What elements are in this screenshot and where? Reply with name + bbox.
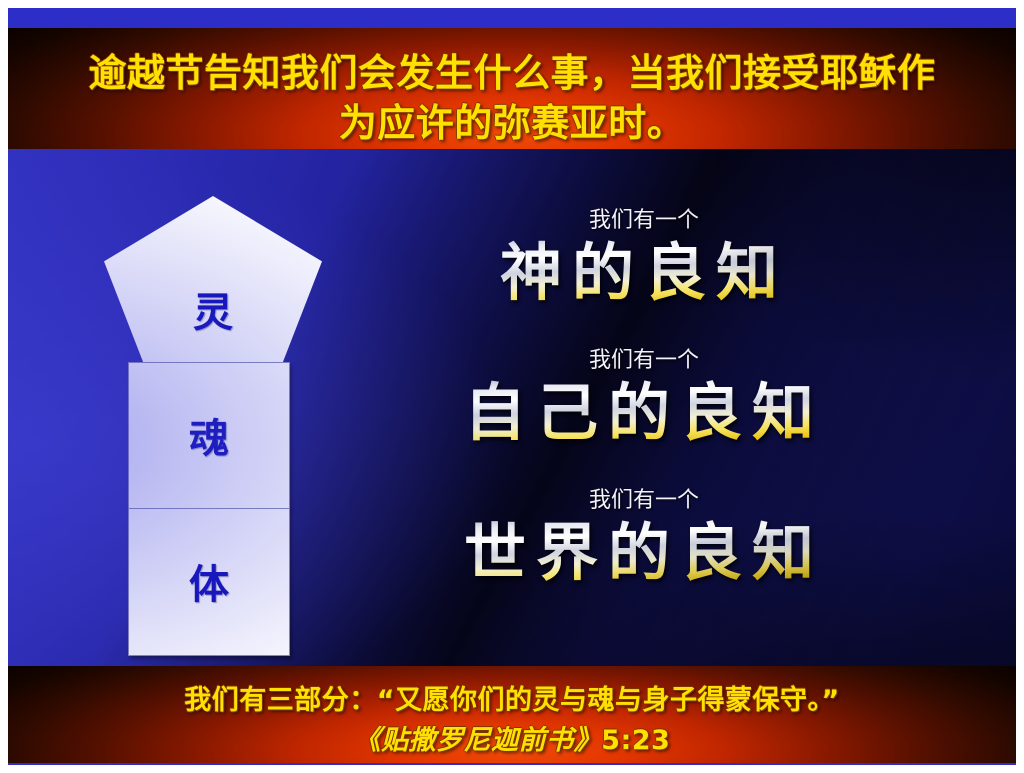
soul-box[interactable]: 魂 bbox=[128, 362, 290, 510]
conscience-main-self: 自己的良知 bbox=[344, 380, 944, 445]
conscience-row-self: 我们有一个 自己的良知 bbox=[344, 350, 944, 490]
conscience-intro-self: 我们有一个 bbox=[344, 350, 944, 372]
conscience-row-god: 我们有一个 神的良知 bbox=[344, 210, 944, 350]
soul-label: 魂 bbox=[129, 406, 289, 464]
conscience-main-god: 神的良知 bbox=[344, 240, 944, 305]
conscience-main-world: 世界的良知 bbox=[344, 520, 944, 585]
spirit-pentagon[interactable]: 灵 bbox=[104, 196, 322, 368]
caption-line-2: 《贴撒罗尼迦前书》5:23 bbox=[8, 718, 1016, 757]
conscience-intro-god: 我们有一个 bbox=[344, 210, 944, 232]
body-label: 体 bbox=[129, 552, 289, 610]
conscience-row-world: 我们有一个 世界的良知 bbox=[344, 490, 944, 630]
title-line-1: 逾越节告知我们会发生什么事，当我们接受耶稣作 bbox=[8, 42, 1016, 97]
slide-frame: 灵 魂 体 我们有一个 神的良知 我们有一个 自己的良知 bbox=[8, 8, 1016, 765]
slide: 灵 魂 体 我们有一个 神的良知 我们有一个 自己的良知 bbox=[0, 0, 1024, 773]
scripture-verse: 5:23 bbox=[601, 725, 670, 756]
conscience-list: 我们有一个 神的良知 我们有一个 自己的良知 我们有一个 世界的良知 bbox=[344, 210, 944, 630]
scripture-reference: 《贴撒罗尼迦前书》 bbox=[354, 725, 602, 756]
tripartite-diagram: 灵 魂 体 bbox=[104, 196, 324, 658]
caption-banner: 我们有三部分：“又愿你们的灵与魂与身子得蒙保守。” 《贴撒罗尼迦前书》5:23 bbox=[8, 666, 1016, 763]
title-banner: 逾越节告知我们会发生什么事，当我们接受耶稣作 为应许的弥赛亚时。 bbox=[8, 28, 1016, 149]
title-line-2: 为应许的弥赛亚时。 bbox=[8, 92, 1016, 147]
spirit-label: 灵 bbox=[104, 280, 322, 338]
conscience-intro-world: 我们有一个 bbox=[344, 490, 944, 512]
body-box[interactable]: 体 bbox=[128, 508, 290, 656]
caption-line-1: 我们有三部分：“又愿你们的灵与魂与身子得蒙保守。” bbox=[8, 678, 1016, 717]
